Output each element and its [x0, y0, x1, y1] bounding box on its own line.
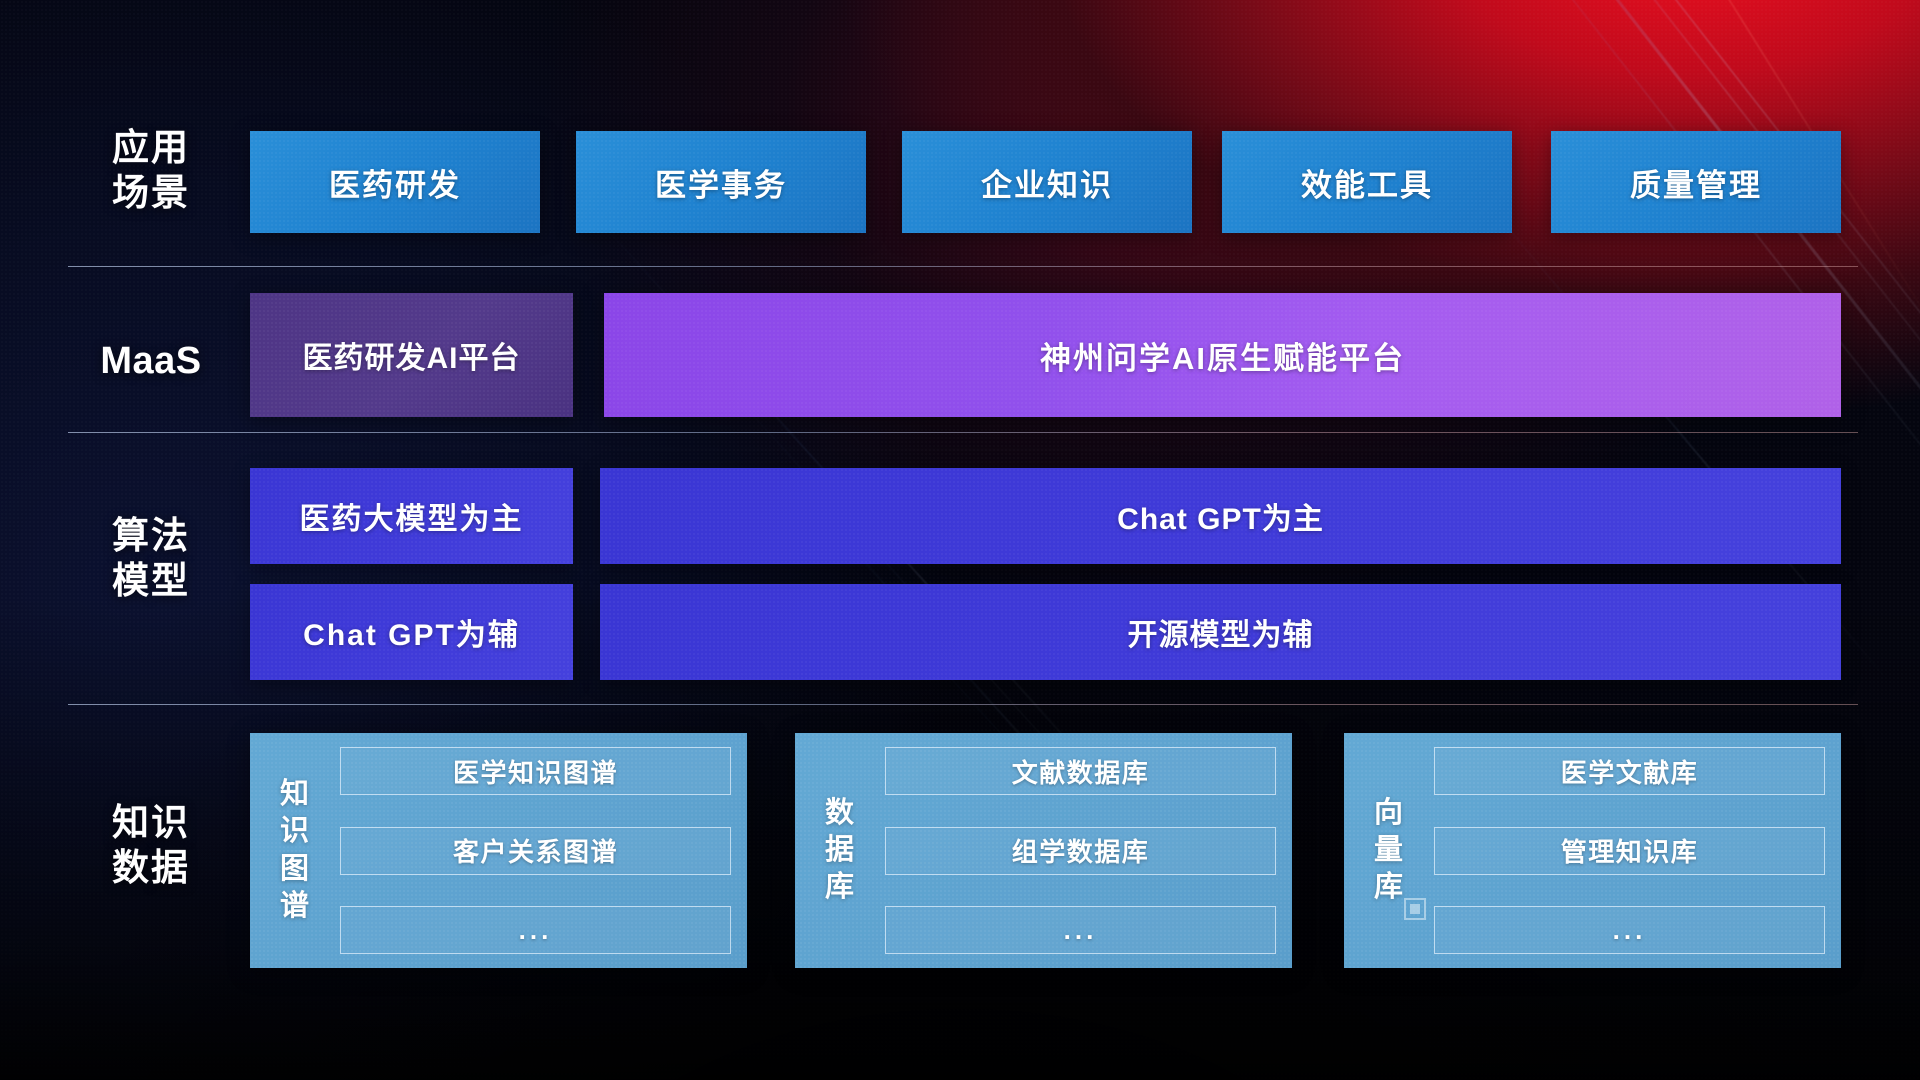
knowledge-group-title: 数 据 库: [809, 747, 871, 954]
row-label-line: 数据: [56, 845, 246, 890]
divider-after-application-row: [68, 266, 1858, 267]
knowledge-group-title: 向 量 库: [1358, 747, 1420, 954]
knowledge-item[interactable]: 客户关系图谱: [340, 827, 731, 875]
knowledge-group-knowledge-graph[interactable]: 知 识 图 谱 医学知识图谱 客户关系图谱 ...: [250, 733, 747, 968]
knowledge-group-title-char: 库: [1374, 869, 1404, 906]
knowledge-item-more[interactable]: ...: [1434, 906, 1825, 954]
row-label-line: 应用: [56, 125, 246, 170]
knowledge-group-title-char: 识: [280, 813, 310, 850]
knowledge-group-title-char: 数: [825, 795, 855, 832]
row-label-line: 知识: [56, 800, 246, 845]
knowledge-item[interactable]: 文献数据库: [885, 747, 1276, 795]
knowledge-group-title: 知 识 图 谱: [264, 747, 326, 954]
knowledge-group-items: 医学知识图谱 客户关系图谱 ...: [340, 747, 731, 954]
algo-card-label: Chat GPT为主: [1117, 494, 1324, 538]
knowledge-item[interactable]: 管理知识库: [1434, 827, 1825, 875]
maas-card-medicine-rd-ai-platform[interactable]: 医药研发AI平台: [250, 293, 573, 417]
algo-card-medicine-llm-primary[interactable]: 医药大模型为主: [250, 468, 573, 564]
row-label-maas: MaaS: [56, 338, 246, 384]
row-label-algorithm-model: 算法 模型: [56, 513, 246, 603]
row-label-line: 算法: [56, 513, 246, 558]
algo-card-label: Chat GPT为辅: [303, 610, 520, 654]
knowledge-group-vector-store[interactable]: 向 量 库 医学文献库 管理知识库 ...: [1344, 733, 1841, 968]
knowledge-group-title-char: 知: [280, 776, 310, 813]
knowledge-group-title-char: 库: [825, 869, 855, 906]
row-label-line: 场景: [56, 170, 246, 215]
app-card-label: 医学事务: [655, 160, 787, 205]
row-label-line: MaaS: [56, 338, 246, 384]
maas-card-label: 神州问学AI原生赋能平台: [1040, 333, 1405, 378]
knowledge-item[interactable]: 医学文献库: [1434, 747, 1825, 795]
algo-card-open-source-secondary[interactable]: 开源模型为辅: [600, 584, 1841, 680]
knowledge-group-title-char: 向: [1374, 795, 1404, 832]
algo-card-chatgpt-primary[interactable]: Chat GPT为主: [600, 468, 1841, 564]
knowledge-group-items: 文献数据库 组学数据库 ...: [885, 747, 1276, 954]
app-card-label: 医药研发: [329, 160, 461, 205]
knowledge-item-more[interactable]: ...: [885, 906, 1276, 954]
knowledge-group-title-char: 谱: [280, 888, 310, 925]
knowledge-group-title-char: 量: [1374, 832, 1404, 869]
app-card-efficiency-tools[interactable]: 效能工具: [1222, 131, 1512, 233]
knowledge-group-items: 医学文献库 管理知识库 ...: [1434, 747, 1825, 954]
app-card-medical-affairs[interactable]: 医学事务: [576, 131, 866, 233]
knowledge-group-title-char: 据: [825, 832, 855, 869]
algo-card-label: 开源模型为辅: [1128, 610, 1314, 654]
row-label-knowledge-data: 知识 数据: [56, 800, 246, 890]
maas-card-shenzhou-wenxue-platform[interactable]: 神州问学AI原生赋能平台: [604, 293, 1841, 417]
app-card-enterprise-knowledge[interactable]: 企业知识: [902, 131, 1192, 233]
architecture-diagram: 应用 场景 医药研发 医学事务 企业知识 效能工具 质量管理 MaaS 医药研发…: [0, 0, 1920, 1080]
app-card-label: 效能工具: [1301, 160, 1433, 205]
app-card-label: 企业知识: [981, 160, 1113, 205]
app-card-medicine-rd[interactable]: 医药研发: [250, 131, 540, 233]
maas-card-label: 医药研发AI平台: [303, 333, 521, 377]
divider-after-algorithm-row: [68, 704, 1858, 705]
row-label-application-scenarios: 应用 场景: [56, 125, 246, 215]
algo-card-chatgpt-secondary[interactable]: Chat GPT为辅: [250, 584, 573, 680]
row-label-line: 模型: [56, 558, 246, 603]
knowledge-group-title-char: 图: [280, 851, 310, 888]
knowledge-group-database[interactable]: 数 据 库 文献数据库 组学数据库 ...: [795, 733, 1292, 968]
knowledge-item-more[interactable]: ...: [340, 906, 731, 954]
app-card-quality-management[interactable]: 质量管理: [1551, 131, 1841, 233]
algo-card-label: 医药大模型为主: [300, 494, 524, 538]
knowledge-item[interactable]: 组学数据库: [885, 827, 1276, 875]
divider-after-maas-row: [68, 432, 1858, 433]
app-card-label: 质量管理: [1630, 160, 1762, 205]
knowledge-item[interactable]: 医学知识图谱: [340, 747, 731, 795]
